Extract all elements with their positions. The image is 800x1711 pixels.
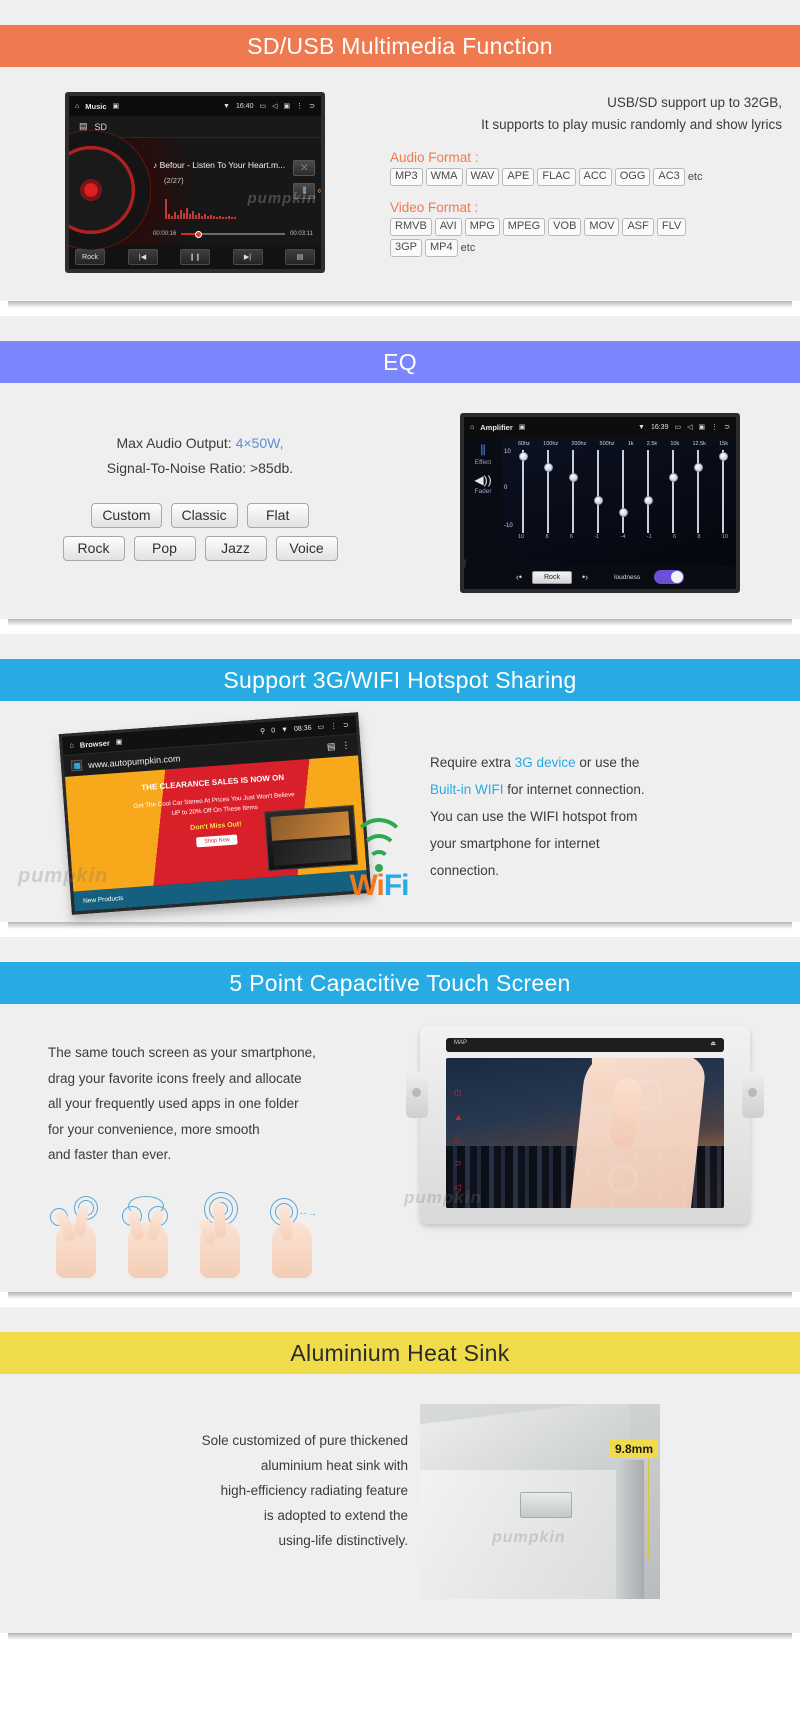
music-player-figure: ⌂ Music ▣ ▼ 16:40 ▭ ◁ ▣ ⋮ ⊃ ▤ SD xyxy=(0,92,390,273)
band-value: 8 xyxy=(545,534,548,540)
track-index: (2/27) xyxy=(164,176,285,185)
home-icon[interactable]: ⌂ xyxy=(75,103,79,110)
overflow-menu-icon[interactable]: ⋮ xyxy=(296,102,303,110)
wifi-text-line-2: Built-in WIFI for internet connection. xyxy=(430,776,778,803)
panel-top-spacer xyxy=(0,634,800,659)
panel-top-spacer xyxy=(0,937,800,962)
back-icon[interactable]: ⊃ xyxy=(343,721,349,729)
amp-effect-label[interactable]: Effect xyxy=(475,459,492,466)
heat-sink-content: Sole customized of pure thickened alumin… xyxy=(0,1374,800,1633)
progress-knob[interactable] xyxy=(195,231,202,238)
slider-rail xyxy=(597,450,599,533)
back-icon[interactable]: ⊃ xyxy=(309,102,315,110)
touch-text-line: The same touch screen as your smartphone… xyxy=(48,1040,370,1066)
sliders-icon[interactable]: ⫼ xyxy=(464,443,502,458)
head-unit-screen[interactable]: ⏻ ▲ ⌂ ⊃ ◁ xyxy=(446,1058,724,1208)
screenshot-icon[interactable]: ▭ xyxy=(674,423,681,431)
sd-card-icon: ▣ xyxy=(113,102,120,110)
slider-rail xyxy=(572,450,574,533)
speaker-icon[interactable]: ◀)) xyxy=(464,473,502,487)
ad-product-image xyxy=(264,805,358,871)
section-eq: EQ Max Audio Output: 4×50W, Signal-To-No… xyxy=(0,316,800,619)
measure-badge: 9.8mm xyxy=(610,1440,658,1458)
overflow-menu-icon[interactable]: ⋮ xyxy=(330,722,338,730)
format-tag: AC3 xyxy=(653,168,684,186)
eq-preset-pop[interactable]: Pop xyxy=(134,536,196,561)
disc-slot: MAP ⏏ xyxy=(446,1038,724,1052)
eq-preset-rock[interactable]: Rock xyxy=(63,536,125,561)
eq-preset-buttons: Custom Classic Flat Rock Pop Jazz Voice xyxy=(0,503,400,561)
touch-text-line: for your convenience, more smooth xyxy=(48,1117,370,1143)
section-touch: 5 Point Capacitive Touch Screen The same… xyxy=(0,937,800,1292)
status-clock: 16:39 xyxy=(651,424,669,431)
band-slider[interactable] xyxy=(543,450,553,533)
signal-level: 0 xyxy=(271,727,275,734)
wifi-logo: WiFi xyxy=(348,832,410,900)
audio-format-suffix: etc xyxy=(688,171,703,183)
amp-sliders xyxy=(516,447,730,533)
touch-text-line: all your frequently used apps in one fol… xyxy=(48,1091,370,1117)
video-format-suffix: etc xyxy=(461,242,476,254)
band-label: 10k xyxy=(670,441,679,447)
slider-knob[interactable] xyxy=(719,452,728,461)
duration-time: 00:03:11 xyxy=(290,231,313,237)
volume-icon[interactable]: ◁ xyxy=(687,423,692,431)
heat-sink-text-line: Sole customized of pure thickened xyxy=(0,1428,408,1453)
mute-icon[interactable]: ◁ xyxy=(454,1182,463,1193)
section-title-wifi: Support 3G/WIFI Hotspot Sharing xyxy=(0,659,800,701)
prev-preset-icon[interactable]: ‹• xyxy=(516,572,522,582)
section-wifi: Support 3G/WIFI Hotspot Sharing ⌂ Browse… xyxy=(0,634,800,922)
panel-top-spacer xyxy=(0,316,800,341)
section-title-heat-sink: Aluminium Heat Sink xyxy=(0,1332,800,1374)
progress-fill xyxy=(181,233,196,235)
map-label: MAP xyxy=(454,1040,467,1046)
section-title-touch: 5 Point Capacitive Touch Screen xyxy=(0,962,800,1004)
eq-preset-flat[interactable]: Flat xyxy=(247,503,309,528)
sd-usb-text-block: USB/SD support up to 32GB, It supports t… xyxy=(390,92,800,273)
heat-sink-bracket xyxy=(520,1492,572,1518)
previous-track-icon[interactable]: |◀ xyxy=(128,249,158,265)
status-clock: 16:40 xyxy=(236,103,254,110)
eject-icon[interactable]: ⏏ xyxy=(710,1040,716,1047)
player-app-title: Music xyxy=(85,102,106,111)
heat-sink-figure: 9.8mm pumpkin xyxy=(420,1404,800,1599)
hand-shape xyxy=(272,1222,312,1278)
format-tag: ACC xyxy=(579,168,612,186)
format-tag: MOV xyxy=(584,218,619,236)
eq-preset-custom[interactable]: Custom xyxy=(91,503,161,528)
mounting-ear-right xyxy=(742,1072,764,1118)
wifi-icon: ▼ xyxy=(638,424,645,431)
car-head-unit: MAP ⏏ ⏻ ▲ ⌂ ⊃ ◁ xyxy=(420,1026,750,1224)
format-tag: AVI xyxy=(435,218,462,236)
double-chevron-left-icon[interactable]: « xyxy=(317,185,323,197)
back-icon[interactable]: ⊃ xyxy=(724,423,730,431)
band-label: 60hz xyxy=(518,441,530,447)
band-label: 1k xyxy=(628,441,634,447)
player-main-area: ♪ Befour - Listen To Your Heart.m... (2/… xyxy=(69,138,321,245)
slider-knob[interactable] xyxy=(694,463,703,472)
amp-axis-top: 10 xyxy=(504,449,511,455)
sd-usb-content: ⌂ Music ▣ ▼ 16:40 ▭ ◁ ▣ ⋮ ⊃ ▤ SD xyxy=(0,67,800,301)
progress-row[interactable]: 00:00:16 00:03:11 xyxy=(153,231,313,237)
progress-slider[interactable] xyxy=(181,233,285,235)
screenshot-icon[interactable]: ▭ xyxy=(259,102,266,110)
gesture-illustrations: --→ xyxy=(48,1190,370,1278)
eq-preset-row-1: Custom Classic Flat xyxy=(0,503,400,528)
audio-format-tags: MP3 WMA WAV APE FLAC ACC OGG AC3 etc xyxy=(390,168,782,186)
spread-gesture-icon xyxy=(120,1190,184,1278)
wifi-text-block: Require extra 3G device or use the Built… xyxy=(430,723,800,904)
eq-spec-line-2: Signal-To-Noise Ratio: >85db. xyxy=(0,456,400,481)
heat-sink-text-block: Sole customized of pure thickened alumin… xyxy=(0,1404,420,1599)
panel-top-spacer xyxy=(0,0,800,25)
format-tag: 3GP xyxy=(390,239,422,257)
format-tag: FLV xyxy=(657,218,686,236)
track-title-text: Befour - Listen To Your Heart.m... xyxy=(160,160,286,170)
heat-sink-text-line: aluminium heat sink with xyxy=(0,1453,408,1478)
back-icon[interactable]: ⊃ xyxy=(454,1158,463,1169)
music-player-device: ⌂ Music ▣ ▼ 16:40 ▭ ◁ ▣ ⋮ ⊃ ▤ SD xyxy=(65,92,325,273)
band-slider[interactable] xyxy=(718,450,728,533)
eq-preset-row-2: Rock Pop Jazz Voice xyxy=(0,536,400,561)
sd-card-icon: ▣ xyxy=(519,423,526,431)
section-title-sd-usb: SD/USB Multimedia Function xyxy=(0,25,800,67)
wifi-text-1b: 3G device xyxy=(515,755,576,770)
amp-app-title: Amplifier xyxy=(480,423,513,432)
vinyl-disc-icon xyxy=(65,130,151,250)
mounting-ear-left xyxy=(406,1072,428,1118)
index-finger xyxy=(591,1058,616,1101)
band-slider[interactable] xyxy=(618,450,628,533)
band-label: 200hz xyxy=(571,441,586,447)
amp-footer: ‹• Rock •› loudness xyxy=(464,565,736,589)
amp-graph: 10 0 -10 60hz 100hz 200hz 500hz 1k 2.5k xyxy=(502,437,736,565)
band-value: 10 xyxy=(722,534,728,540)
slider-knob[interactable] xyxy=(619,508,628,517)
band-slider[interactable] xyxy=(568,450,578,533)
band-label: 2.5k xyxy=(647,441,657,447)
wifi-text-line-3: You can use the WIFI hotspot from xyxy=(430,803,778,830)
ad-shop-now-button[interactable]: Shop Now xyxy=(196,834,238,847)
music-note-icon: ♪ xyxy=(153,160,160,170)
band-slider[interactable] xyxy=(518,450,528,533)
slider-rail xyxy=(522,450,524,533)
wifi-logo-text-b: Fi xyxy=(384,869,409,902)
format-tag: MPG xyxy=(465,218,500,236)
slider-knob[interactable] xyxy=(669,473,678,482)
loudness-toggle[interactable] xyxy=(654,570,684,584)
overflow-menu-icon[interactable]: ⋮ xyxy=(711,423,718,431)
wifi-icon: ▼ xyxy=(281,726,288,733)
pinch-gesture-icon xyxy=(48,1190,112,1278)
elapsed-time: 00:00:16 xyxy=(153,231,176,237)
band-label: 12.5k xyxy=(692,441,705,447)
wifi-text-line-1: Require extra 3G device or use the xyxy=(430,749,778,776)
slider-knob[interactable] xyxy=(519,452,528,461)
band-slider[interactable] xyxy=(693,450,703,533)
format-tag: MP3 xyxy=(390,168,423,186)
amp-preset-button[interactable]: Rock xyxy=(532,571,572,584)
overflow-menu-icon[interactable]: ⋮ xyxy=(341,740,351,752)
format-tag: OGG xyxy=(615,168,651,186)
amp-axis-mid: 0 xyxy=(504,485,507,491)
wifi-text-2b: for internet connection. xyxy=(504,782,645,797)
heat-sink-text-line: is adopted to extend the xyxy=(0,1503,408,1528)
wifi-content: ⌂ Browser ▣ ⚲ 0 ▼ 08:36 ▭ ⋮ ⊃ w xyxy=(0,701,800,922)
slider-knob[interactable] xyxy=(644,496,653,505)
amp-mode-rail: ⫼ Effect ◀)) Fader xyxy=(464,437,502,565)
loudness-label: loudness xyxy=(614,574,640,581)
next-track-icon[interactable]: ▶| xyxy=(233,249,263,265)
band-label: 100hz xyxy=(543,441,558,447)
eq-content: Max Audio Output: 4×50W, Signal-To-Noise… xyxy=(0,383,800,619)
slider-knob[interactable] xyxy=(569,473,578,482)
panel-top-spacer xyxy=(0,1307,800,1332)
amplifier-device: ⌂ Amplifier ▣ ▼ 16:39 ▭ ◁ ▣ ⋮ ⊃ xyxy=(460,413,740,593)
format-tag: MP4 xyxy=(425,239,458,257)
product-detail-page: SD/USB Multimedia Function ⌂ Music ▣ ▼ 1… xyxy=(0,0,800,1633)
touch-text-line: drag your favorite icons freely and allo… xyxy=(48,1066,370,1092)
player-status-bar: ⌂ Music ▣ ▼ 16:40 ▭ ◁ ▣ ⋮ ⊃ xyxy=(69,96,321,116)
wifi-text-2a: Built-in WIFI xyxy=(430,782,504,797)
navigation-icon[interactable]: ▲ xyxy=(454,1112,463,1122)
sd-usb-lead-line-1: USB/SD support up to 32GB, xyxy=(390,92,782,114)
measure-line xyxy=(648,1440,649,1560)
band-label: 500hz xyxy=(600,441,615,447)
browser-url-text[interactable]: www.autopumpkin.com xyxy=(88,753,181,770)
player-controls: Rock |◀ ❙❙ ▶| ▤ xyxy=(69,245,321,269)
audio-format-label: Audio Format : xyxy=(390,150,782,165)
slider-rail xyxy=(672,450,674,533)
eq-text-block: Max Audio Output: 4×50W, Signal-To-Noise… xyxy=(0,413,400,593)
next-preset-icon[interactable]: •› xyxy=(582,572,588,582)
section-heat-sink: Aluminium Heat Sink Sole customized of p… xyxy=(0,1307,800,1633)
format-tag: WMA xyxy=(426,168,463,186)
touch-text-line: and faster than ever. xyxy=(48,1142,370,1168)
wifi-icon: ▼ xyxy=(223,103,230,110)
heat-sink-text-line: using-life distinctively. xyxy=(0,1528,408,1553)
screenshot-icon[interactable]: ▭ xyxy=(317,723,324,731)
volume-icon[interactable]: ◁ xyxy=(272,102,277,110)
heat-sink-fin xyxy=(616,1460,644,1599)
home-icon[interactable]: ⌂ xyxy=(454,1135,463,1145)
home-icon[interactable]: ⌂ xyxy=(470,424,474,431)
amplifier-figure: ⌂ Amplifier ▣ ▼ 16:39 ▭ ◁ ▣ ⋮ ⊃ xyxy=(400,413,800,593)
video-format-tags: RMVB AVI MPG MPEG VOB MOV ASF FLV xyxy=(390,218,782,236)
eq-preset-jazz[interactable]: Jazz xyxy=(205,536,267,561)
track-title: ♪ Befour - Listen To Your Heart.m... xyxy=(153,160,285,170)
pause-icon[interactable]: ❙❙ xyxy=(180,249,210,265)
video-format-tags-row2: 3GP MP4 etc xyxy=(390,239,782,257)
format-tag: FLAC xyxy=(537,168,575,186)
heat-sink-chassis xyxy=(420,1470,620,1599)
wifi-logo-text-a: Wi xyxy=(349,869,383,902)
eq-spec-label-1: Max Audio Output: xyxy=(117,435,236,451)
band-slider[interactable] xyxy=(593,450,603,533)
wifi-text-1c: or use the xyxy=(576,755,640,770)
hand-illustration xyxy=(569,1058,707,1208)
preset-button[interactable]: Rock xyxy=(75,249,105,265)
format-tag: WAV xyxy=(466,168,500,186)
heat-sink-photo: 9.8mm pumpkin xyxy=(420,1404,660,1599)
location-icon: ⚲ xyxy=(260,727,266,735)
browser-figure: ⌂ Browser ▣ ⚲ 0 ▼ 08:36 ▭ ⋮ ⊃ w xyxy=(0,723,430,904)
wifi-arcs-icon xyxy=(348,832,410,872)
head-unit-frame: MAP ⏏ ⏻ ▲ ⌂ ⊃ ◁ xyxy=(420,1026,750,1224)
slider-rail xyxy=(722,450,724,533)
bookmark-icon[interactable]: ▤ xyxy=(327,741,336,753)
slider-rail xyxy=(622,450,624,533)
heat-sink-text-line: high-efficiency radiating feature xyxy=(0,1478,408,1503)
apps-icon[interactable]: ▣ xyxy=(699,423,706,431)
sd-card-icon: ▣ xyxy=(115,738,122,746)
track-info-row: ♪ Befour - Listen To Your Heart.m... (2/… xyxy=(153,160,313,199)
band-slider[interactable] xyxy=(643,450,653,533)
shuffle-icon[interactable]: ⤬ xyxy=(293,160,315,176)
browser-app-title: Browser xyxy=(80,738,111,749)
sd-usb-lead-line-2: It supports to play music randomly and s… xyxy=(390,114,782,136)
status-clock: 08:36 xyxy=(294,724,312,732)
band-value: 10 xyxy=(518,534,524,540)
favicon-icon xyxy=(71,760,83,772)
band-value: -1 xyxy=(594,534,599,540)
amp-body: ⫼ Effect ◀)) Fader 10 0 -10 xyxy=(464,437,736,565)
apps-icon[interactable]: ▣ xyxy=(284,102,291,110)
status-spacer xyxy=(128,732,254,741)
eq-preset-voice[interactable]: Voice xyxy=(276,536,338,561)
touch-content: The same touch screen as your smartphone… xyxy=(0,1004,800,1292)
spectrum-visualizer xyxy=(165,195,236,219)
wifi-text-line-5: connection. xyxy=(430,857,778,884)
eq-spec-value-1: 4×50W, xyxy=(236,435,284,451)
format-tag: ASF xyxy=(622,218,653,236)
slider-knob[interactable] xyxy=(544,463,553,472)
wifi-text-1a: Require extra xyxy=(430,755,515,770)
amp-band-values: 10 8 6 -1 -4 -1 6 8 10 xyxy=(516,533,730,540)
slider-rail xyxy=(647,450,649,533)
band-slider[interactable] xyxy=(668,450,678,533)
touch-text-block: The same touch screen as your smartphone… xyxy=(0,1026,370,1278)
amp-axis-bottom: -10 xyxy=(504,523,513,529)
browser-device: ⌂ Browser ▣ ⚲ 0 ▼ 08:36 ▭ ⋮ ⊃ w xyxy=(59,712,371,914)
band-value: -4 xyxy=(621,534,626,540)
url-spacer xyxy=(186,748,321,758)
eq-preset-classic[interactable]: Classic xyxy=(171,503,238,528)
format-tag: APE xyxy=(502,168,534,186)
band-value: 6 xyxy=(570,534,573,540)
section-title-eq: EQ xyxy=(0,341,800,383)
band-value: 8 xyxy=(697,534,700,540)
amp-fader-label[interactable]: Fader xyxy=(475,488,492,495)
slider-knob[interactable] xyxy=(594,496,603,505)
power-icon[interactable]: ⏻ xyxy=(454,1088,463,1099)
equalizer-icon[interactable]: ⫼ xyxy=(293,183,315,199)
lyrics-icon[interactable]: ▤ xyxy=(285,249,315,265)
amp-status-bar: ⌂ Amplifier ▣ ▼ 16:39 ▭ ◁ ▣ ⋮ ⊃ xyxy=(464,417,736,437)
wifi-text-line-4: your smartphone for internet xyxy=(430,830,778,857)
section-sd-usb: SD/USB Multimedia Function ⌂ Music ▣ ▼ 1… xyxy=(0,0,800,301)
head-unit-figure: MAP ⏏ ⏻ ▲ ⌂ ⊃ ◁ xyxy=(370,1026,800,1278)
wifi-logo-text: WiFi xyxy=(348,872,410,900)
drag-gesture-icon: --→ xyxy=(264,1190,328,1278)
video-format-label: Video Format : xyxy=(390,200,782,215)
browser-ad-banner[interactable]: THE CLEARANCE SALES IS NOW ON Get The Co… xyxy=(65,755,367,891)
format-tag: VOB xyxy=(548,218,581,236)
eq-spec-line-1: Max Audio Output: 4×50W, xyxy=(0,431,400,456)
band-value: -1 xyxy=(647,534,652,540)
band-value: 6 xyxy=(673,534,676,540)
format-tag: RMVB xyxy=(390,218,432,236)
screen-side-buttons: ⏻ ▲ ⌂ ⊃ ◁ xyxy=(454,1088,463,1193)
band-label: 15k xyxy=(719,441,728,447)
format-tag: MPEG xyxy=(503,218,545,236)
drag-arrow-icon: --→ xyxy=(300,1208,318,1218)
tap-gesture-icon xyxy=(192,1190,256,1278)
home-icon[interactable]: ⌂ xyxy=(69,742,74,749)
